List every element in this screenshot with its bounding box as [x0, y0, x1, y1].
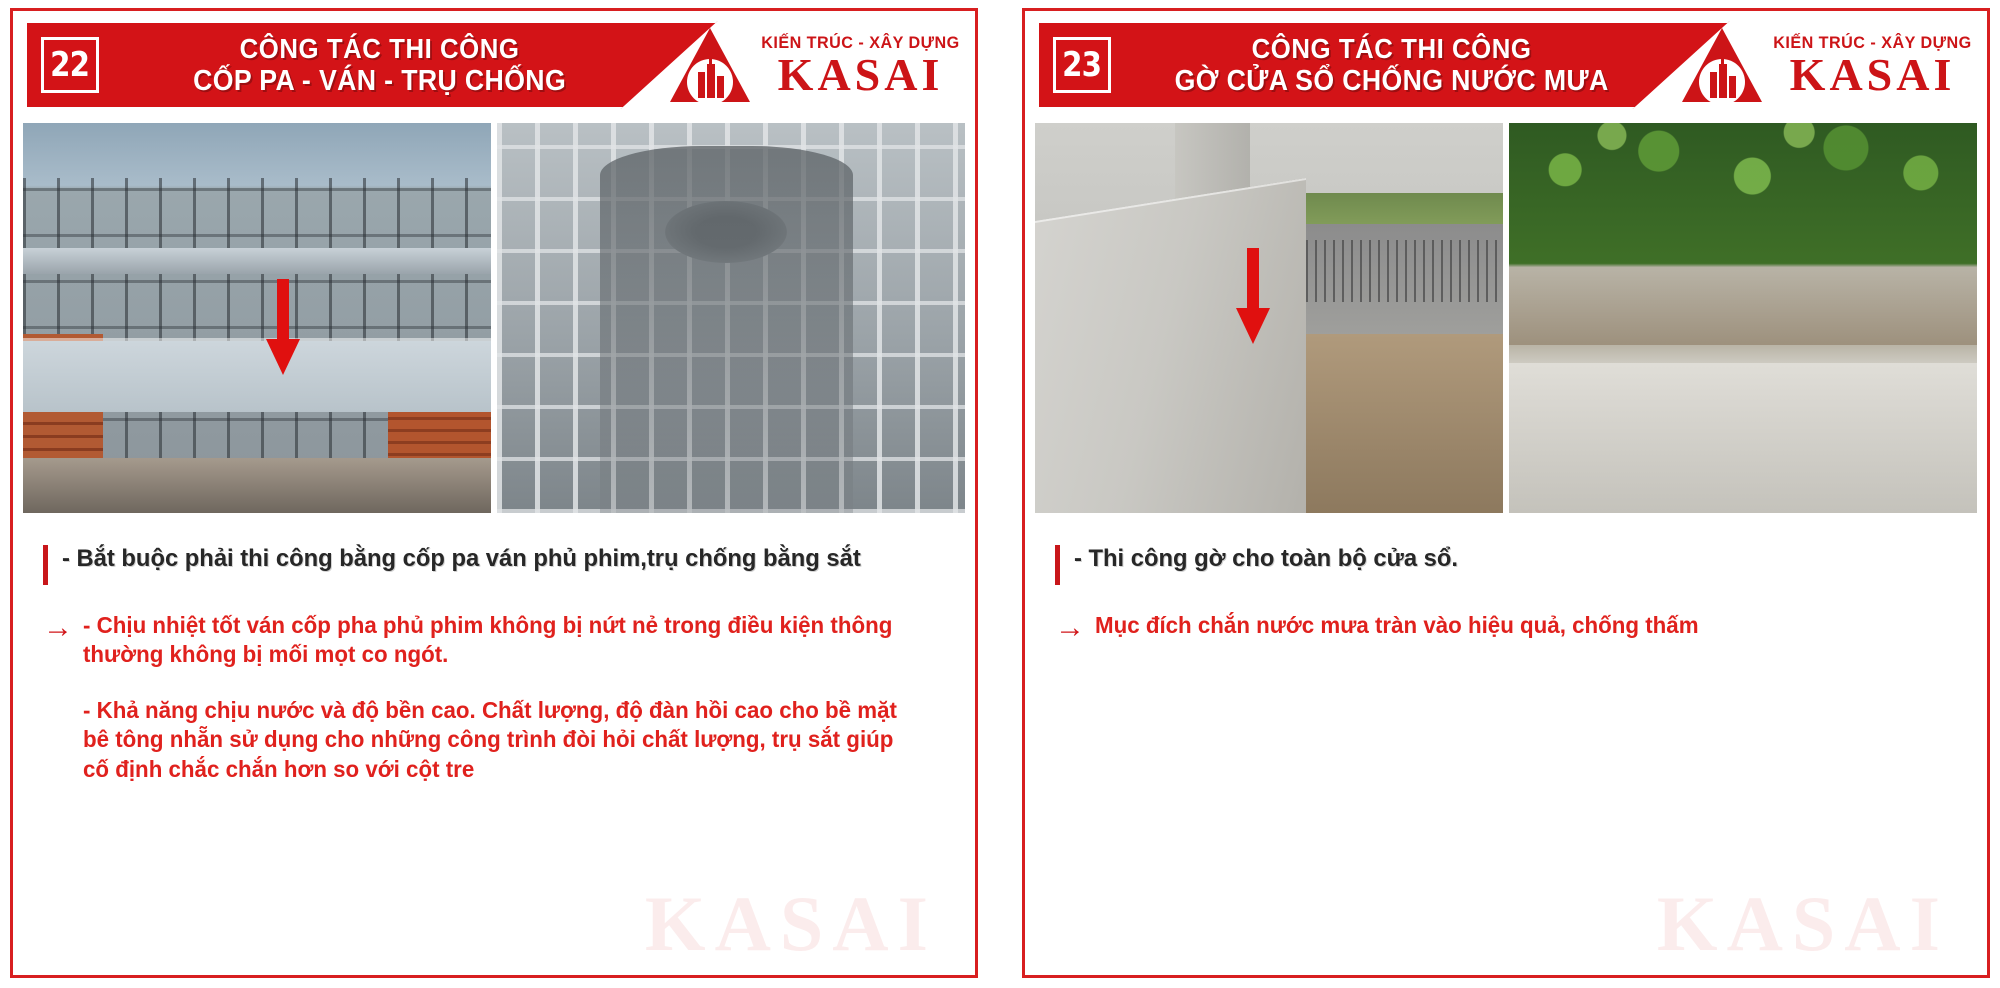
red-down-arrow-icon: [1236, 248, 1270, 344]
kasai-watermark: KASAI: [1657, 879, 1949, 969]
ground-strip: [23, 458, 491, 513]
note-item: - Bắt buộc phải thi công bằng cốp pa ván…: [43, 543, 949, 585]
panel-23-header-banner: 23 CÔNG TÁC THI CÔNG GỜ CỬA SỔ CHỐNG NƯỚ…: [1037, 21, 1730, 109]
note-accent-bar: [1055, 545, 1060, 585]
photo-building-formwork: [23, 123, 491, 513]
panel-22: 22 CÔNG TÁC THI CÔNG CỐP PA - VÁN - TRỤ …: [10, 8, 978, 978]
panel-23-notes: - Thi công gờ cho toàn bộ cửa sổ. → Mục …: [1025, 513, 1987, 975]
note-text: - Chịu nhiệt tốt ván cốp pha phủ phim kh…: [83, 611, 923, 670]
panel-23-title-line2: GỜ CỬA SỔ CHỐNG NƯỚC MƯA: [1144, 66, 1638, 96]
panel-23-header: 23 CÔNG TÁC THI CÔNG GỜ CỬA SỔ CHỐNG NƯỚ…: [1025, 11, 1987, 119]
kasai-logo-icon: [668, 24, 752, 106]
panel-22-header: 22 CÔNG TÁC THI CÔNG CỐP PA - VÁN - TRỤ …: [13, 11, 975, 119]
note-item: → - Chịu nhiệt tốt ván cốp pha phủ phim …: [43, 611, 949, 670]
panel-23-logo-text: KIẾN TRÚC - XÂY DỰNG KASAI: [1768, 33, 1977, 97]
kasai-logo-icon: [1680, 24, 1764, 106]
panel-22-title-line1: CÔNG TÁC THI CÔNG: [132, 34, 626, 63]
note-accent-bar: [43, 545, 48, 585]
photo-concrete-window-sill: [1035, 123, 1503, 513]
panel-23: 23 CÔNG TÁC THI CÔNG GỜ CỬA SỔ CHỐNG NƯỚ…: [1022, 8, 1990, 978]
dirt-ground: [1288, 334, 1503, 513]
panel-22-title-line2: CỐP PA - VÁN - TRỤ CHỐNG: [132, 66, 626, 96]
panel-22-logo: KIẾN TRÚC - XÂY DỰNG KASAI: [668, 21, 965, 109]
arrow-right-icon: →: [43, 613, 73, 643]
note-text: Mục đích chắn nước mưa tràn vào hiệu quả…: [1095, 611, 1699, 640]
brand-name: KASAI: [1790, 53, 1956, 97]
arrow-right-icon: →: [1055, 613, 1085, 643]
panel-23-title-line1: CÔNG TÁC THI CÔNG: [1144, 34, 1638, 63]
panel-23-number-box: 23: [1053, 37, 1111, 93]
document-sheet: 22 CÔNG TÁC THI CÔNG CỐP PA - VÁN - TRỤ …: [0, 0, 2000, 988]
retaining-wall: [1509, 357, 1977, 513]
panel-23-number: 23: [1063, 48, 1102, 82]
note-text: - Thi công gờ cho toàn bộ cửa sổ.: [1074, 543, 1458, 575]
brand-subtitle: KIẾN TRÚC - XÂY DỰNG: [1773, 33, 1971, 53]
fence-railing: [1297, 240, 1503, 302]
note-item: - Thi công gờ cho toàn bộ cửa sổ.: [1055, 543, 1961, 585]
panel-23-logo: KIẾN TRÚC - XÂY DỰNG KASAI: [1680, 21, 1977, 109]
panel-22-notes: - Bắt buộc phải thi công bằng cốp pa ván…: [13, 513, 975, 975]
brand-name: KASAI: [778, 53, 944, 97]
panel-22-header-banner: 22 CÔNG TÁC THI CÔNG CỐP PA - VÁN - TRỤ …: [25, 21, 718, 109]
note-text: - Bắt buộc phải thi công bằng cốp pa ván…: [62, 543, 861, 575]
tower-opening: [665, 201, 787, 263]
note-text: - Khả năng chịu nước và độ bền cao. Chất…: [83, 696, 923, 784]
panel-23-titles: CÔNG TÁC THI CÔNG GỜ CỬA SỔ CHỐNG NƯỚC M…: [1123, 34, 1728, 96]
note-item: → Mục đích chắn nước mưa tràn vào hiệu q…: [1055, 611, 1961, 643]
kasai-watermark: KASAI: [645, 879, 937, 969]
panel-23-photos: [1025, 119, 1987, 513]
panel-22-titles: CÔNG TÁC THI CÔNG CỐP PA - VÁN - TRỤ CHỐ…: [111, 34, 716, 96]
panel-22-photos: [13, 119, 975, 513]
brand-subtitle: KIẾN TRÚC - XÂY DỰNG: [761, 33, 959, 53]
note-item: - Khả năng chịu nước và độ bền cao. Chất…: [43, 696, 949, 784]
red-down-arrow-icon: [266, 279, 300, 375]
panel-22-number: 22: [51, 48, 90, 82]
concrete-slab: [23, 248, 491, 274]
concrete-sill-slab: [1035, 178, 1306, 513]
photo-scaffolding-tower: [497, 123, 965, 513]
panel-22-logo-text: KIẾN TRÚC - XÂY DỰNG KASAI: [756, 33, 965, 97]
photo-hedge-retaining-wall: [1509, 123, 1977, 513]
panel-22-number-box: 22: [41, 37, 99, 93]
